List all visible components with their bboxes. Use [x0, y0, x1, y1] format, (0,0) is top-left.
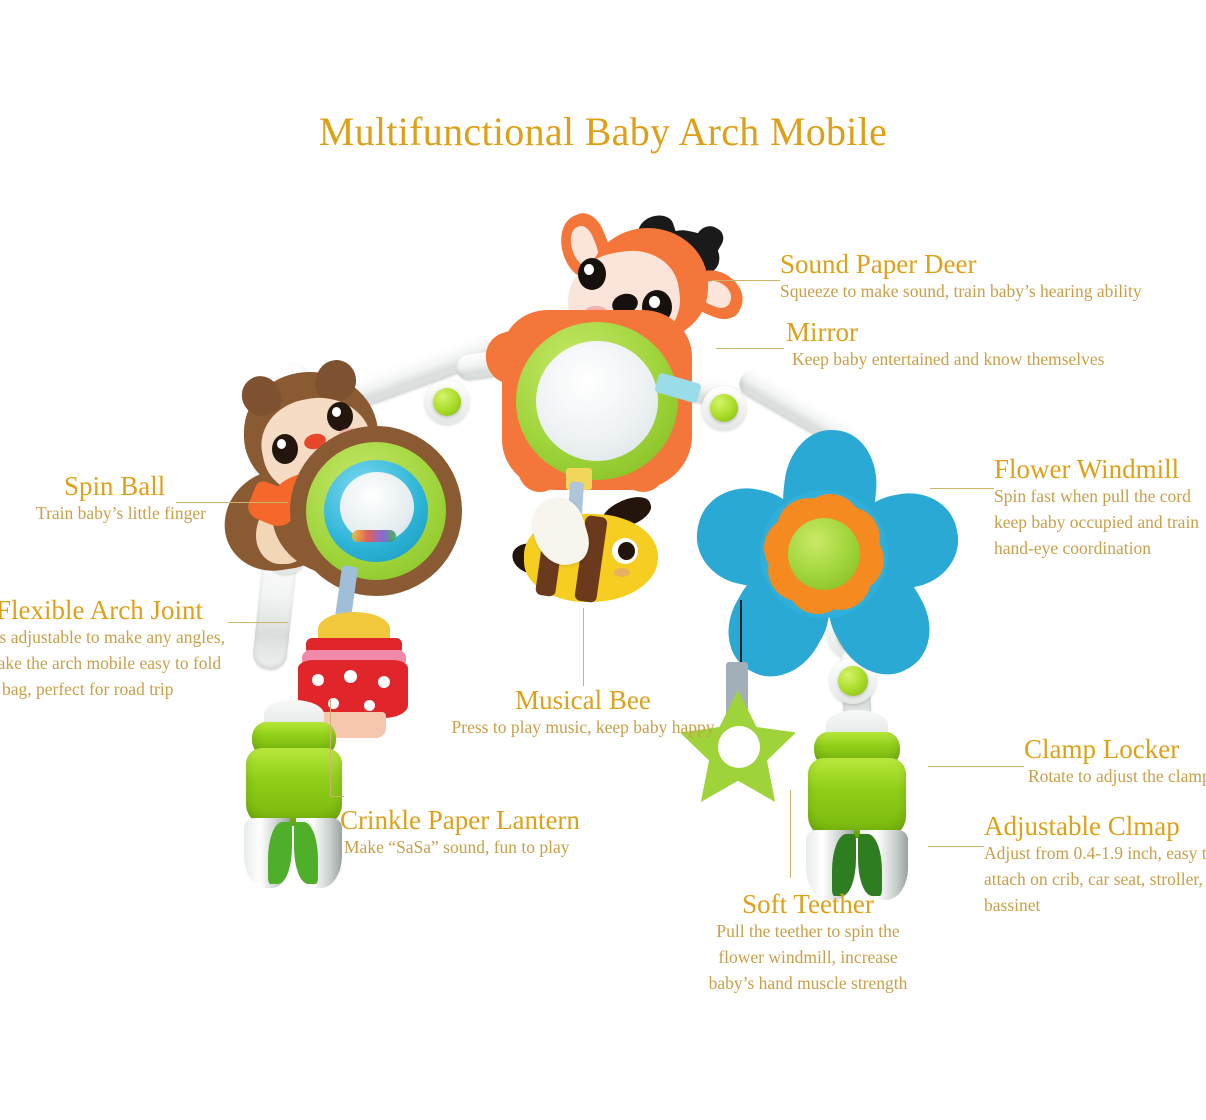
- callout-musical-bee: Musical Bee Press to play music, keep ba…: [418, 686, 748, 741]
- leader-line-clamp-locker: [928, 766, 1024, 767]
- spin-ball-beads: [352, 530, 396, 542]
- bee-cheek: [614, 568, 630, 577]
- clamp-right[interactable]: [798, 710, 914, 900]
- callout-desc-adjustable-clmap-line-1: Adjust from 0.4-1.9 inch, easy to: [984, 841, 1206, 867]
- musical-bee-toy[interactable]: [510, 496, 670, 606]
- deer-eye-left-glint: [584, 264, 594, 275]
- deer-eye-right-glint: [649, 296, 660, 308]
- callout-mirror: Mirror Keep baby entertained and know th…: [786, 318, 1206, 373]
- callout-desc-adjustable-clmap-line-2: attach on crib, car seat, stroller,: [984, 867, 1206, 893]
- callout-desc-spin-ball-line-1: Train baby’s little finger: [36, 501, 286, 527]
- clamp-right-grip-leaf-left: [832, 834, 856, 896]
- spin-ball-toy[interactable]: [290, 426, 462, 596]
- callout-desc-clamp-locker-line-1: Rotate to adjust the clamp: [1024, 764, 1206, 790]
- callout-sound-paper-deer: Sound Paper Deer Squeeze to make sound, …: [780, 250, 1200, 305]
- clamp-right-collar[interactable]: [808, 758, 906, 838]
- leader-line-lantern: [330, 796, 344, 797]
- callout-head-flower-windmill: Flower Windmill: [994, 455, 1206, 484]
- clamp-left-collar[interactable]: [246, 748, 342, 826]
- mirror-toy[interactable]: [516, 322, 678, 480]
- leader-line-adjustable-clamp: [928, 846, 984, 847]
- callout-desc-flower-windmill-line-3: hand-eye coordination: [994, 536, 1206, 562]
- callout-desc-mirror-line-1: Keep baby entertained and know themselve…: [786, 347, 1206, 373]
- callout-head-mirror: Mirror: [786, 318, 1206, 347]
- clamp-left-grip-leaf-left: [268, 822, 292, 884]
- callout-adjustable-clmap: Adjustable Clmap Adjust from 0.4-1.9 inc…: [984, 812, 1206, 919]
- callout-desc-adjustable-clmap-line-3: bassinet: [984, 893, 1206, 919]
- callout-spin-ball: Spin Ball Train baby’s little finger: [36, 472, 286, 527]
- clamp-left[interactable]: [238, 700, 348, 890]
- callout-head-soft-teether: Soft Teether: [678, 890, 938, 919]
- chipmunk-eye-right-glint: [332, 407, 341, 417]
- callout-head-crinkle-paper-lantern: Crinkle Paper Lantern: [340, 806, 660, 835]
- callout-desc-soft-teether-line-3: baby’s hand muscle strength: [678, 971, 938, 997]
- callout-desc-flower-windmill-line-2: keep baby occupied and train: [994, 510, 1206, 536]
- callout-desc-musical-bee-line-1: Press to play music, keep baby happy: [418, 715, 748, 741]
- callout-head-spin-ball: Spin Ball: [36, 472, 286, 501]
- callout-crinkle-paper-lantern: Crinkle Paper Lantern Make “SaSa” sound,…: [340, 806, 660, 861]
- lantern-dot-3: [378, 676, 390, 688]
- callout-desc-soft-teether-line-1: Pull the teether to spin the: [678, 919, 938, 945]
- page-title: Multifunctional Baby Arch Mobile: [0, 108, 1206, 155]
- callout-desc-crinkle-paper-lantern-line-1: Make “SaSa” sound, fun to play: [340, 835, 660, 861]
- callout-desc-flower-windmill-line-1: Spin fast when pull the cord: [994, 484, 1206, 510]
- leader-line-lantern-vert: [330, 700, 331, 796]
- callout-head-musical-bee: Musical Bee: [418, 686, 748, 715]
- leader-line-mirror: [716, 348, 784, 349]
- callout-head-flexible-arch-joint: Flexible Arch Joint: [0, 596, 296, 625]
- lantern-dot-1: [312, 674, 324, 686]
- lantern-dot-2: [344, 670, 357, 683]
- bee-pupil: [618, 542, 635, 560]
- chipmunk-eye-left-glint: [277, 439, 286, 449]
- callout-flower-windmill: Flower Windmill Spin fast when pull the …: [994, 455, 1206, 562]
- infographic-canvas: Multifunctional Baby Arch Mobile: [0, 0, 1206, 1120]
- lantern-dot-5: [364, 700, 375, 711]
- callout-desc-sound-paper-deer-line-1: Squeeze to make sound, train baby’s hear…: [780, 279, 1200, 305]
- callout-desc-flexible-arch-joint-line-3: in bag, perfect for road trip: [0, 677, 296, 703]
- callout-desc-flexible-arch-joint-line-2: make the arch mobile easy to fold: [0, 651, 296, 677]
- leader-line-windmill: [930, 488, 994, 489]
- callout-desc-flexible-arch-joint-line-1: It’s adjustable to make any angles,: [0, 625, 296, 651]
- callout-clamp-locker: Clamp Locker Rotate to adjust the clamp: [1024, 735, 1206, 790]
- leader-line-bee-vert: [583, 608, 584, 686]
- leader-line-deer: [712, 280, 780, 281]
- deer-eye-left: [578, 258, 606, 290]
- callout-head-adjustable-clmap: Adjustable Clmap: [984, 812, 1206, 841]
- callout-head-clamp-locker: Clamp Locker: [1024, 735, 1206, 764]
- mirror-glass: [536, 341, 658, 461]
- windmill-center-button[interactable]: [788, 518, 860, 590]
- callout-flexible-arch-joint: Flexible Arch Joint It’s adjustable to m…: [0, 596, 296, 703]
- callout-head-sound-paper-deer: Sound Paper Deer: [780, 250, 1200, 279]
- callout-desc-soft-teether-line-2: flower windmill, increase: [678, 945, 938, 971]
- flower-windmill-toy[interactable]: [700, 430, 950, 680]
- callout-soft-teether: Soft Teether Pull the teether to spin th…: [678, 890, 938, 997]
- leader-line-teether-vert: [790, 790, 791, 878]
